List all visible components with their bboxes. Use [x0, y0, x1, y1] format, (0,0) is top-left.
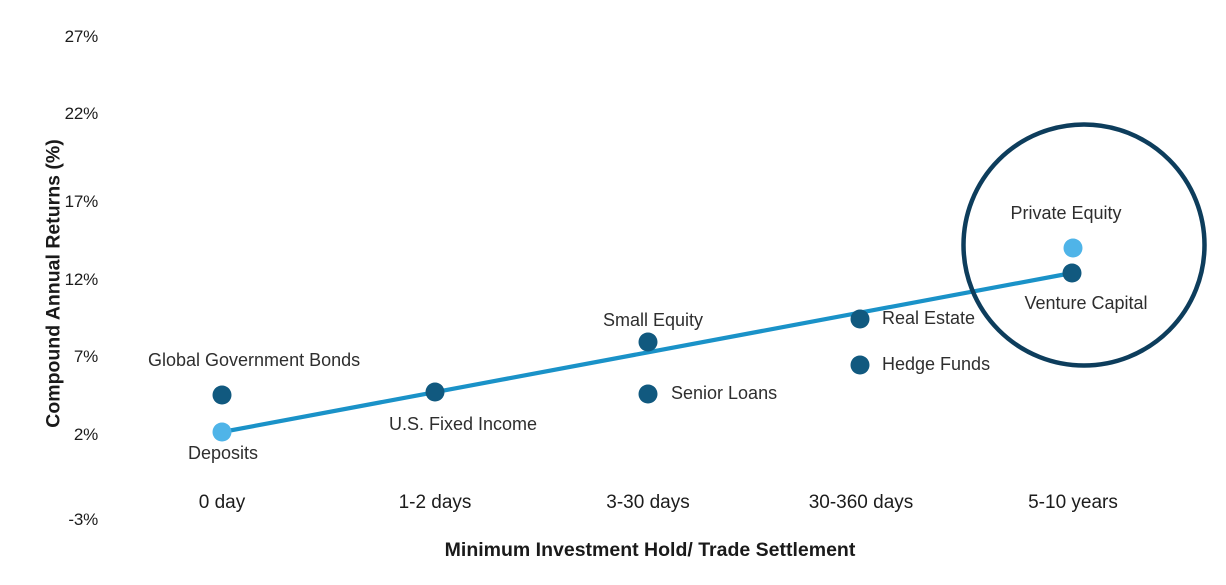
marker-deposits[interactable]	[213, 423, 232, 442]
x-tick-0-day: 0 day	[199, 492, 245, 514]
label-global-government-bonds: Global Government Bonds	[148, 350, 360, 371]
label-us-fixed-income: U.S. Fixed Income	[389, 414, 537, 435]
y-tick-22: 22%	[0, 104, 98, 124]
marker-us-fixed-income[interactable]	[426, 383, 445, 402]
x-tick-1-2-days: 1-2 days	[399, 492, 472, 514]
x-tick-30-360-days: 30-360 days	[809, 492, 914, 514]
label-real-estate: Real Estate	[882, 308, 975, 329]
label-deposits: Deposits	[188, 443, 258, 464]
x-tick-3-30-days: 3-30 days	[606, 492, 689, 514]
marker-private-equity[interactable]	[1064, 239, 1083, 258]
marker-senior-loans[interactable]	[639, 385, 658, 404]
marker-small-equity[interactable]	[639, 333, 658, 352]
marker-hedge-funds[interactable]	[851, 356, 870, 375]
y-tick-minus-3: -3%	[0, 510, 98, 530]
private-markets-highlight-circle	[964, 125, 1205, 366]
y-tick-27: 27%	[0, 27, 98, 47]
label-hedge-funds: Hedge Funds	[882, 354, 990, 375]
label-private-equity: Private Equity	[1010, 203, 1121, 224]
marker-global-government-bonds[interactable]	[213, 386, 232, 405]
y-tick-2: 2%	[0, 425, 98, 445]
label-senior-loans: Senior Loans	[671, 383, 777, 404]
marker-real-estate[interactable]	[851, 310, 870, 329]
marker-venture-capital[interactable]	[1063, 264, 1082, 283]
chart-canvas: Compound Annual Returns (%) 27% 22% 17% …	[0, 0, 1226, 585]
label-small-equity: Small Equity	[603, 310, 703, 331]
y-tick-17: 17%	[0, 192, 98, 212]
label-venture-capital: Venture Capital	[1024, 293, 1147, 314]
x-axis-title: Minimum Investment Hold/ Trade Settlemen…	[445, 539, 856, 562]
y-tick-12: 12%	[0, 270, 98, 290]
y-tick-7: 7%	[0, 347, 98, 367]
x-tick-5-10-years: 5-10 years	[1028, 492, 1118, 514]
